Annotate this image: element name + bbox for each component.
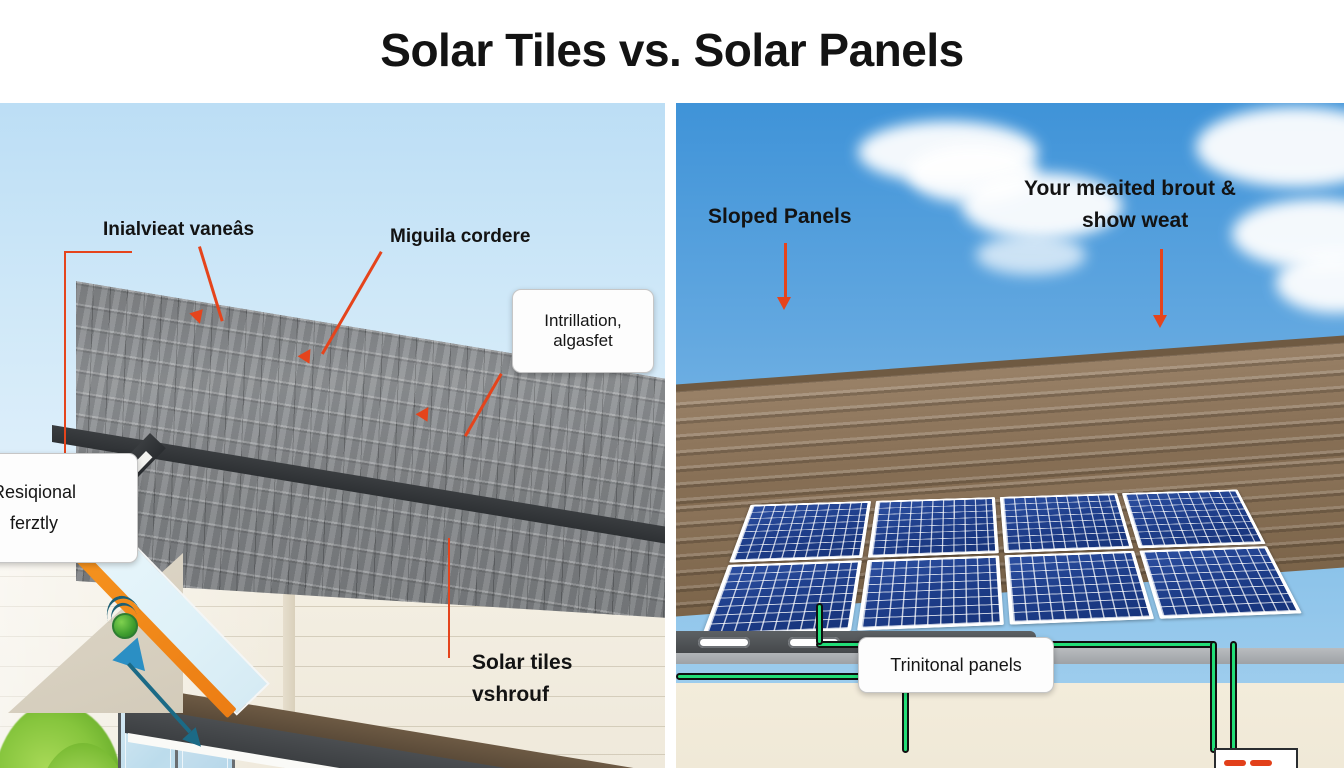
vent-slot-1 <box>698 637 750 648</box>
solar-panel-r1c1 <box>729 501 871 563</box>
solar-panel-r1c3 <box>1000 493 1134 553</box>
cloud-7 <box>976 235 1086 275</box>
title-bar: Solar Tiles vs. Solar Panels <box>0 0 1344 100</box>
conduit-drop-right-a <box>1210 641 1217 753</box>
solar-panel-array <box>701 489 1310 638</box>
label-bottom-line2: vshrouf <box>472 683 549 708</box>
right-panel-solar-panels: Sloped Panels Your meaited brout & show … <box>676 103 1344 768</box>
lead-line-bottom <box>448 538 450 658</box>
lead-line-regional <box>64 251 66 456</box>
label-top-left: Inialvieat vaneâs <box>103 219 254 241</box>
label-weather-line2: show weat <box>1082 209 1188 234</box>
conduit-riser-left <box>816 603 823 645</box>
left-panel-solar-tiles: Inialvieat vaneâs Miguila cordere Intril… <box>0 103 665 768</box>
diagram-root: Solar Tiles vs. Solar Panels <box>0 0 1344 768</box>
junction-box[interactable] <box>1214 748 1298 768</box>
eco-globe-icon <box>112 613 138 639</box>
junction-marker-1 <box>1224 760 1246 766</box>
arrow-head-weather <box>1153 315 1167 328</box>
page-title: Solar Tiles vs. Solar Panels <box>380 23 963 77</box>
label-weather-line1: Your meaited brout & <box>1024 177 1236 202</box>
traditional-panels-callout-text: Trinitonal panels <box>890 655 1021 676</box>
regional-callout[interactable]: Resiqional ferztly <box>0 453 138 563</box>
lead-top-regional <box>64 251 132 253</box>
infiltration-callout-line2: algasfet <box>553 331 613 351</box>
infiltration-callout[interactable]: Intrillation, algasfet <box>512 289 654 373</box>
solar-panel-r2c1 <box>702 560 862 636</box>
traditional-panels-callout[interactable]: Trinitonal panels <box>858 637 1054 693</box>
label-sloped-panels: Sloped Panels <box>708 205 852 230</box>
label-top-right: Miguila cordere <box>390 226 530 248</box>
arrow-head-sloped-panels <box>777 297 791 310</box>
regional-callout-line2: ferztly <box>10 513 58 534</box>
solar-panel-r1c4 <box>1122 489 1266 548</box>
panel-divider <box>665 103 676 768</box>
solar-panel-r2c4 <box>1139 546 1302 619</box>
arrow-line-sloped-panels <box>784 243 787 301</box>
solar-panel-r2c2 <box>857 555 1004 630</box>
infiltration-callout-line1: Intrillation, <box>544 311 621 331</box>
arrow-line-weather <box>1160 249 1163 319</box>
solar-panel-r1c2 <box>868 497 999 558</box>
label-bottom-line1: Solar tiles <box>472 651 572 676</box>
solar-panel-r2c3 <box>1004 551 1154 625</box>
conduit-drop-right-b <box>1230 641 1237 753</box>
junction-marker-2 <box>1250 760 1272 766</box>
regional-callout-line1: Resiqional <box>0 482 76 503</box>
